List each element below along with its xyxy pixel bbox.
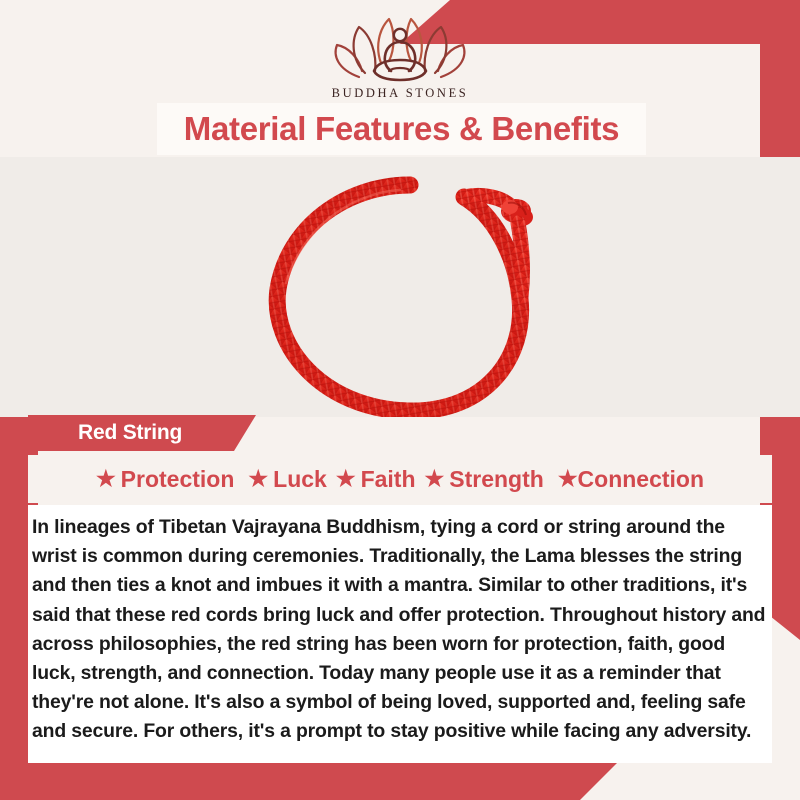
star-icon: ★ [425,468,445,490]
star-icon: ★ [558,468,578,490]
lotus-meditation-icon [329,11,471,83]
star-icon: ★ [96,468,116,490]
benefit-label: Faith [361,466,416,493]
benefits-row: ★ Protection ★ Luck ★ Faith ★ Strength ★… [28,455,772,503]
benefit-label: Luck [273,466,327,493]
benefit-label: Protection [121,466,235,493]
brand-header: BUDDHA STONES [0,0,800,103]
benefit-luck: ★ Luck [248,466,326,493]
star-icon: ★ [336,468,356,490]
benefit-protection: ★ Protection [96,466,234,493]
red-string-bracelet-image [250,171,570,417]
benefit-connection: ★ Connection [558,466,704,493]
benefit-faith: ★ Faith [336,466,416,493]
benefit-strength: ★ Strength [425,466,544,493]
brand-logo: BUDDHA STONES [329,11,471,101]
decor-bar-bottom [0,760,620,800]
material-label-banner: Red String [28,415,256,451]
star-icon: ★ [248,468,268,490]
description-panel: In lineages of Tibetan Vajrayana Buddhis… [28,505,772,763]
material-label: Red String [78,421,182,445]
brand-name: BUDDHA STONES [332,86,469,101]
product-hero [0,157,800,417]
description-text: In lineages of Tibetan Vajrayana Buddhis… [32,513,768,747]
title-banner: Material Features & Benefits [157,103,646,155]
benefit-label: Connection [578,466,705,493]
infographic-page: BUDDHA STONES Material Features & Benefi… [0,0,800,800]
benefit-label: Strength [449,466,544,493]
page-title: Material Features & Benefits [184,110,619,148]
